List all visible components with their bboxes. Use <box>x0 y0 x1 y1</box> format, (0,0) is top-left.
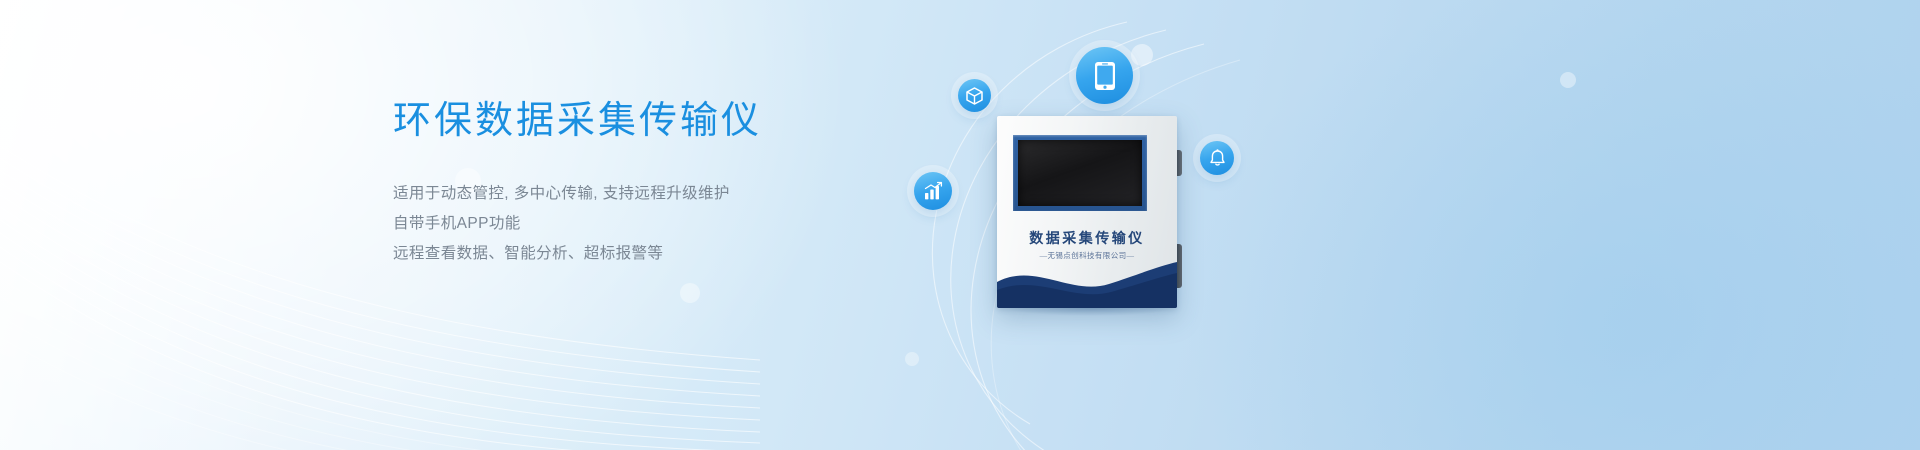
banner-copy: 环保数据采集传输仪 适用于动态管控, 多中心传输, 支持远程升级维护 自带手机A… <box>393 96 863 269</box>
device-screen-bezel <box>1013 135 1147 211</box>
bar-chart-icon-bubble[interactable] <box>914 172 952 210</box>
data-acquisition-device: 数据采集传输仪 —无锡点创科技有限公司— <box>997 116 1177 308</box>
bokeh-circle <box>680 283 700 303</box>
product-banner: 环保数据采集传输仪 适用于动态管控, 多中心传输, 支持远程升级维护 自带手机A… <box>0 0 1920 450</box>
device-wave-band <box>997 256 1177 308</box>
bar-chart-icon <box>923 181 943 201</box>
cube-box-icon-bubble[interactable] <box>958 79 991 112</box>
product-scene: 数据采集传输仪 —无锡点创科技有限公司— <box>880 0 1440 450</box>
mobile-phone-icon-bubble[interactable] <box>1076 47 1133 104</box>
bokeh-circle <box>1560 72 1576 88</box>
device-body: 数据采集传输仪 —无锡点创科技有限公司— <box>997 116 1177 308</box>
device-lcd-screen <box>1018 140 1142 206</box>
device-product-label: 数据采集传输仪 <box>997 228 1177 248</box>
banner-subtitle: 适用于动态管控, 多中心传输, 支持远程升级维护 自带手机APP功能 远程查看数… <box>393 179 863 269</box>
banner-title: 环保数据采集传输仪 <box>393 96 863 146</box>
cube-box-icon <box>966 87 983 105</box>
subtitle-line-3: 远程查看数据、智能分析、超标报警等 <box>393 239 863 269</box>
subtitle-line-1: 适用于动态管控, 多中心传输, 支持远程升级维护 <box>393 179 863 209</box>
alarm-bell-icon-bubble[interactable] <box>1200 141 1234 175</box>
subtitle-line-2: 自带手机APP功能 <box>393 209 863 239</box>
alarm-bell-icon <box>1209 149 1226 167</box>
mobile-phone-icon <box>1094 61 1116 91</box>
